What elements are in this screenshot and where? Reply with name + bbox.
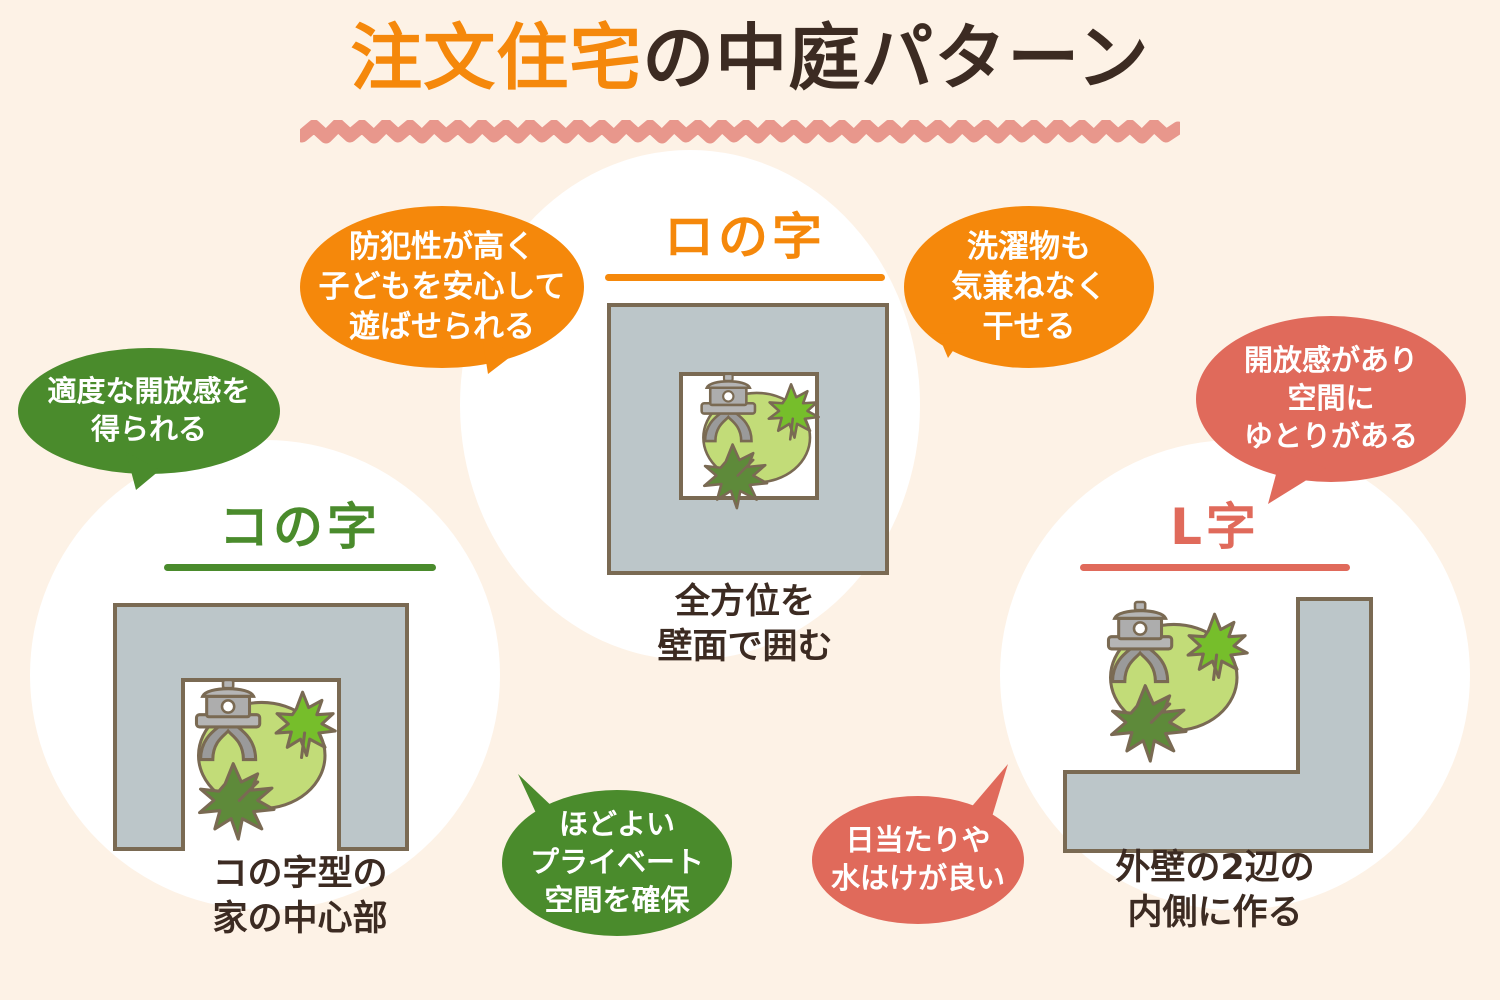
diagram-l-shape xyxy=(1062,596,1374,854)
diagram-ko-u-shape xyxy=(112,602,410,852)
speech-bubble-laundry: 洗濯物も 気兼ねなく 干せる xyxy=(904,206,1154,368)
title-highlight: 注文住宅 xyxy=(350,16,642,100)
caption-l-line2: 内側に作る xyxy=(1050,891,1380,936)
speech-bubble-security-text: 防犯性が高く 子どもを安心して 遊ばせられる xyxy=(318,227,565,348)
speech-bubble-openness-ko: 適度な開放感を 得られる xyxy=(18,348,280,474)
caption-ko-line1: コの字型の xyxy=(120,852,480,897)
section-heading-ro: ロの字 xyxy=(590,212,900,281)
caption-ko: コの字型の 家の中心部 xyxy=(120,852,480,942)
speech-bubble-openness-l-text: 開放感があり 空間に ゆとりがある xyxy=(1244,342,1418,455)
caption-ko-line2: 家の中心部 xyxy=(120,897,480,942)
diagram-ro-square-ring xyxy=(606,302,890,576)
speech-bubble-privacy-text: ほどよい プライベート 空間を確保 xyxy=(530,806,704,919)
section-heading-ko: コの字 xyxy=(150,502,450,571)
infographic-canvas: 注文住宅の中庭パターン ロの字 コの字 L字 xyxy=(0,0,1500,1000)
section-heading-ro-text: ロの字 xyxy=(590,212,900,262)
speech-bubble-sunlight: 日当たりや 水はけが良い xyxy=(812,796,1024,924)
speech-bubble-security: 防犯性が高く 子どもを安心して 遊ばせられる xyxy=(300,206,584,368)
caption-ro-line2: 壁面で囲む xyxy=(590,625,900,670)
section-heading-ko-underline xyxy=(164,564,436,571)
section-heading-ro-underline xyxy=(605,274,885,281)
page-title: 注文住宅の中庭パターン xyxy=(0,22,1500,94)
caption-ro-line1: 全方位を xyxy=(590,580,900,625)
section-heading-l-underline xyxy=(1080,564,1350,571)
section-heading-l-text: L字 xyxy=(1070,502,1360,552)
title-underline-squiggle xyxy=(300,120,1180,146)
speech-bubble-openness-ko-text: 適度な開放感を 得られる xyxy=(47,373,250,448)
section-heading-l: L字 xyxy=(1070,502,1360,571)
title-rest: の中庭パターン xyxy=(642,16,1149,100)
caption-l-line1: 外壁の2辺の xyxy=(1050,846,1380,891)
speech-bubble-openness-l: 開放感があり 空間に ゆとりがある xyxy=(1196,316,1466,482)
speech-bubble-sunlight-text: 日当たりや 水はけが良い xyxy=(831,822,1005,897)
caption-l: 外壁の2辺の 内側に作る xyxy=(1050,846,1380,936)
section-heading-ko-text: コの字 xyxy=(150,502,450,552)
speech-bubble-privacy: ほどよい プライベート 空間を確保 xyxy=(502,790,732,936)
speech-bubble-laundry-text: 洗濯物も 気兼ねなく 干せる xyxy=(952,227,1107,348)
caption-ro: 全方位を 壁面で囲む xyxy=(590,580,900,670)
